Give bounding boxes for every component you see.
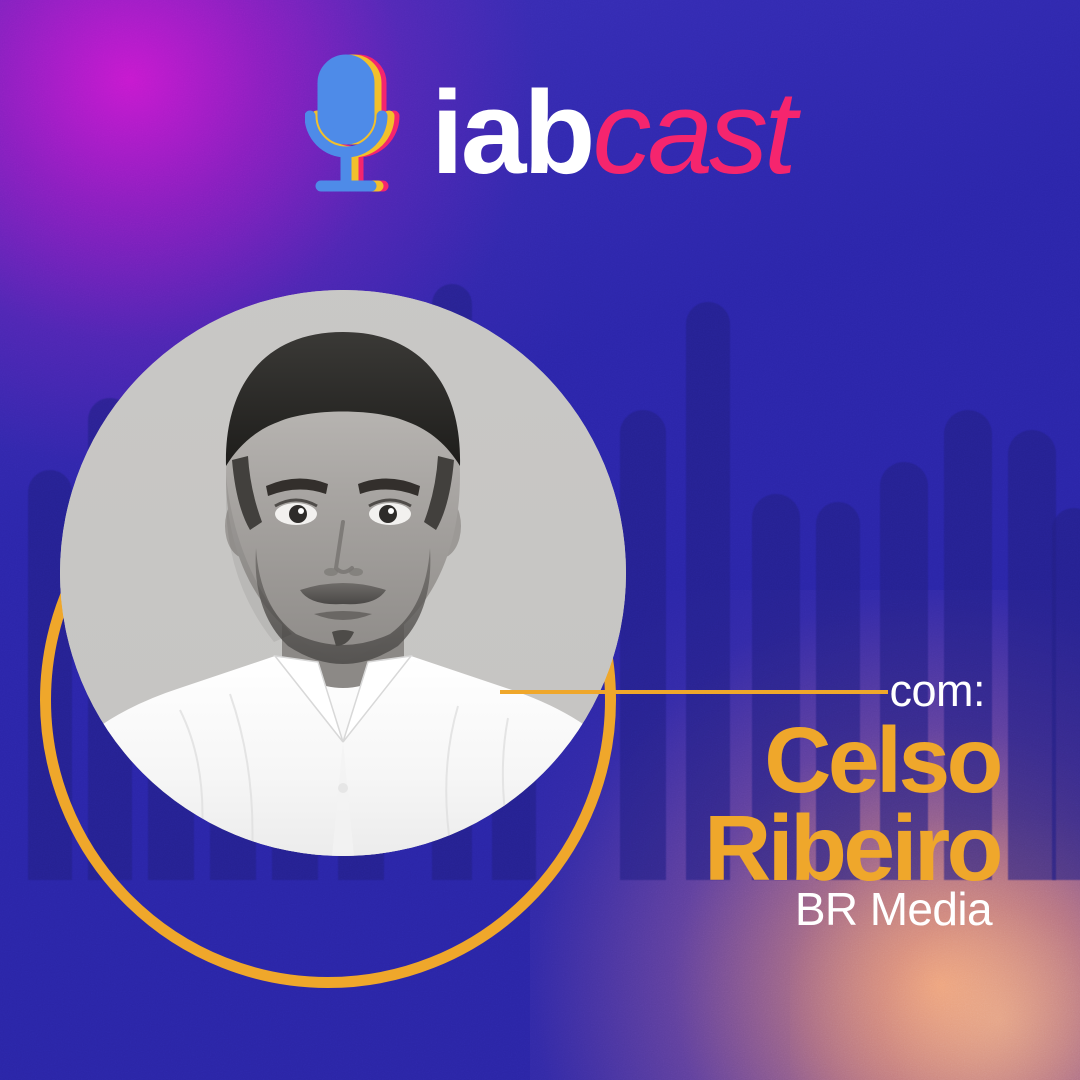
guest-photo (60, 290, 626, 856)
podcast-episode-card: iab cast (0, 0, 1080, 1080)
guest-photo-clip (60, 290, 626, 856)
waveform-bar (1008, 430, 1056, 880)
guest-company: BR Media (795, 886, 992, 932)
guest-first-name: Celso (704, 716, 1000, 804)
microphone-icon (305, 53, 417, 201)
iabcast-logo[interactable]: iab cast (305, 52, 793, 202)
accent-divider-line (500, 690, 888, 694)
waveform-bar (1052, 508, 1080, 880)
logo-iab-text: iab (431, 74, 593, 192)
logo-cast-text: cast (593, 74, 793, 192)
waveform-bar (620, 410, 666, 880)
logo-wordmark: iab cast (431, 74, 793, 192)
guest-portrait-illustration (60, 290, 626, 856)
guest-name: Celso Ribeiro (704, 716, 1000, 893)
guest-prefix-label: com: (889, 668, 985, 713)
guest-last-name: Ribeiro (704, 804, 1000, 892)
